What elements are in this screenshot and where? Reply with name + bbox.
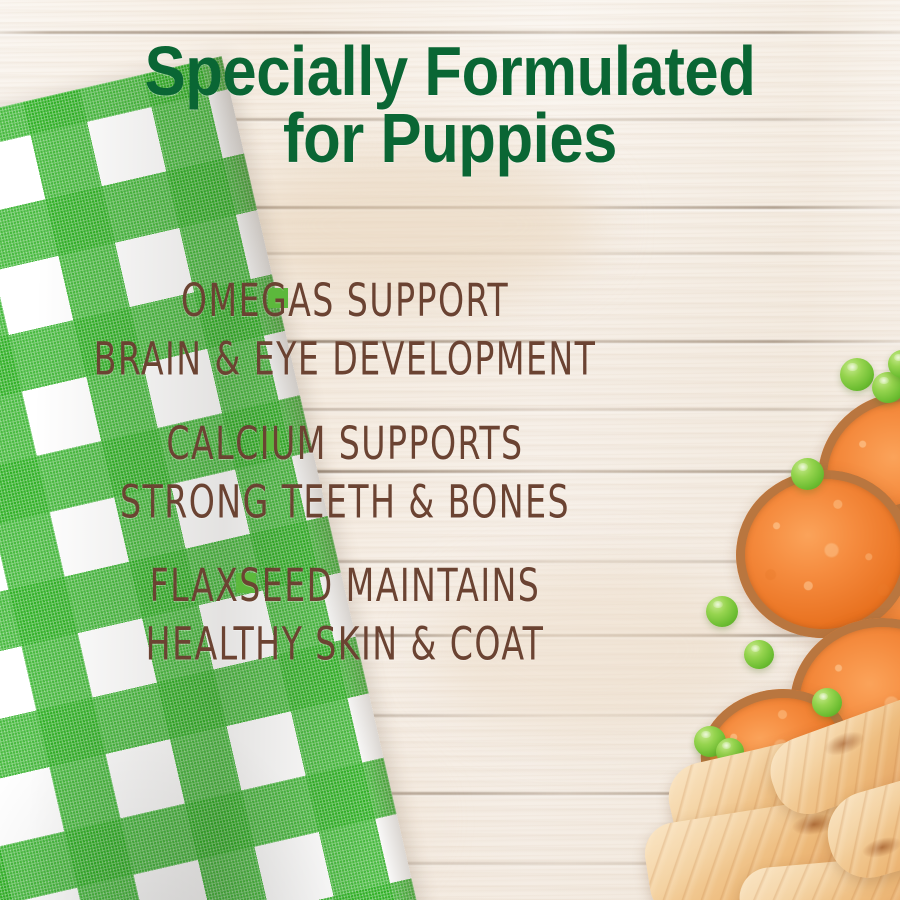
benefit-item-omegas: Omegas Support Brain & Eye Development [0,272,690,379]
benefit-text-calcium: Calcium Supports Strong Teeth & Bones [35,415,656,532]
pea [812,688,842,717]
puppy-food-poster: Specially Formulated for Puppies Omegas … [0,0,900,900]
benefit-item-calcium: Calcium Supports Strong Teeth & Bones [0,415,690,522]
pea [840,358,874,391]
benefit-text-omegas: Omegas Support Brain & Eye Development [35,272,656,389]
sear-mark [860,833,900,861]
sear-mark [821,727,867,760]
benefits-list: Omegas Support Brain & Eye Development C… [0,272,690,700]
page-title: Specially Formulated for Puppies [54,38,846,171]
benefit-text-flaxseed: Flaxseed Maintains Healthy Skin & Coat [35,557,656,674]
benefit-item-flaxseed: Flaxseed Maintains Healthy Skin & Coat [0,557,690,664]
pea [744,640,774,669]
pea [791,458,824,490]
pea [706,596,738,627]
